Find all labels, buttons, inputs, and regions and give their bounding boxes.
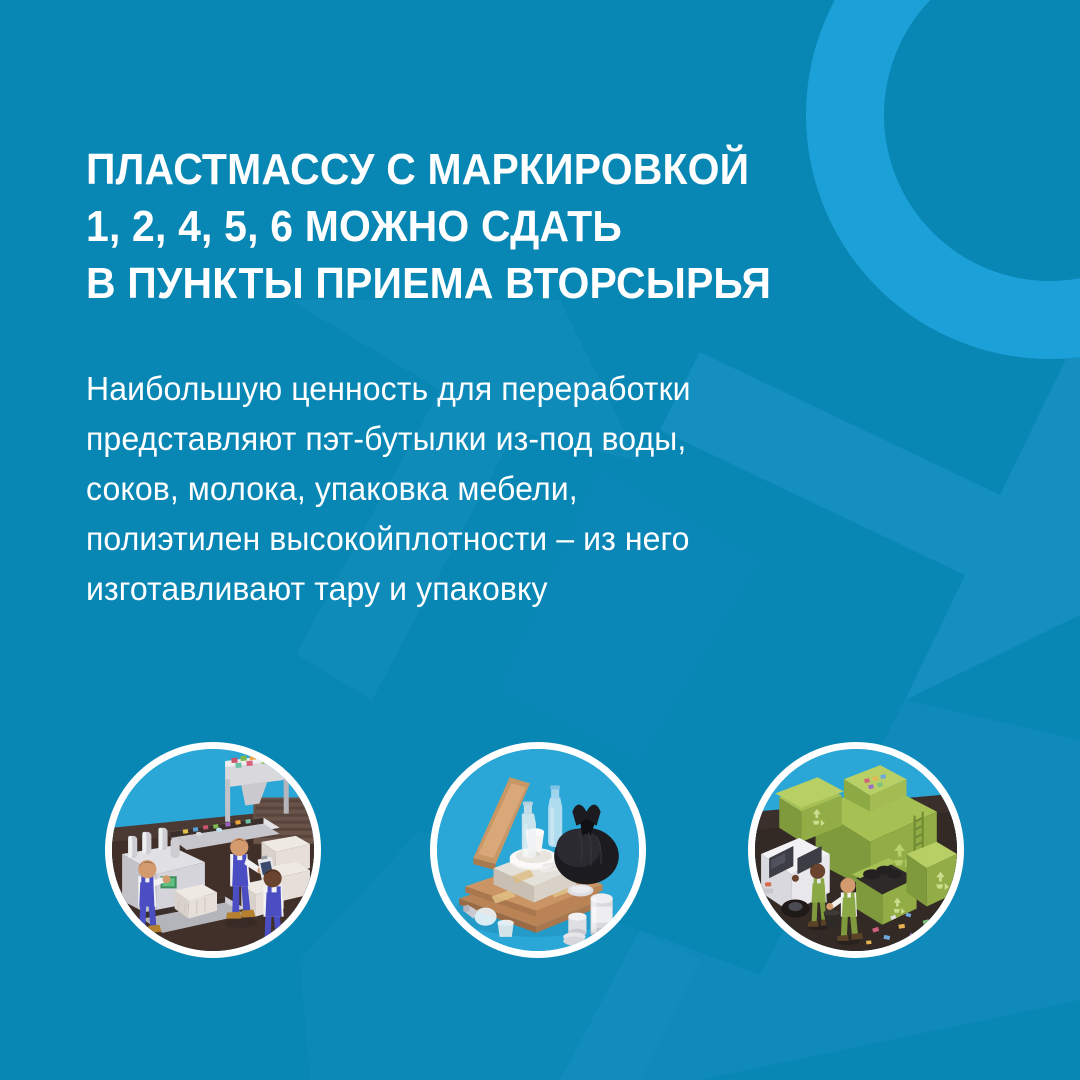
poster-root: ПЛАСТМАССУ С МАРКИРОВКОЙ 1, 2, 4, 5, 6 М…: [0, 0, 1080, 1080]
illustration-recyclable-waste-pile: [430, 742, 646, 958]
illustration-row: [0, 0, 1080, 1080]
illustration-garbage-truck-and-bins: [748, 742, 964, 958]
illustration-recycling-sorting-facility: [105, 742, 321, 958]
